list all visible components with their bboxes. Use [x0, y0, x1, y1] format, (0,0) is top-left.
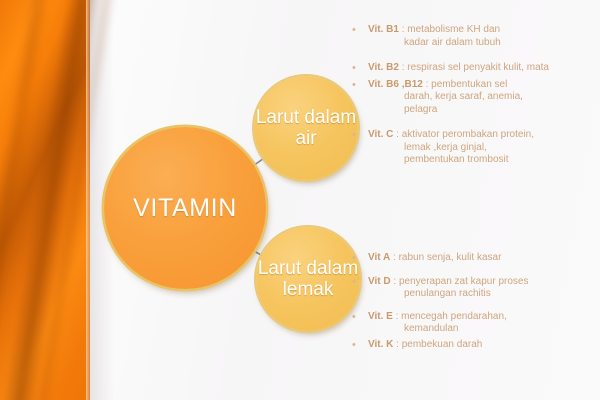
- vitamin-list-item-text: Vit D : penyerapan zat kapur prosespenul…: [368, 276, 598, 301]
- vitamin-description: : rabun senja, kulit kasar: [390, 252, 501, 263]
- vitamin-description: : respirasi sel penyakit kulit, mata: [399, 62, 549, 73]
- vitamin-term: Vit A: [368, 252, 390, 263]
- vitamin-list-item-text: Vit. C : aktivator perombakan protein,le…: [368, 129, 598, 167]
- diagram-node-larut-dalam-lemak[interactable]: Larut dalam lemak: [256, 227, 360, 331]
- vitamin-term: Vit D: [368, 276, 391, 287]
- vitamin-term: Vit. E: [368, 311, 393, 322]
- vitamin-list-item: •Vit D : penyerapan zat kapur prosespenu…: [352, 276, 598, 301]
- bullet-icon: •: [352, 62, 368, 76]
- bullet-icon: •: [352, 276, 368, 290]
- vitamin-list-item-text: Vit. K : pembekuan darah: [368, 339, 598, 352]
- vitamin-list-item-text: Vit A : rabun senja, kulit kasar: [368, 252, 598, 265]
- vitamin-description: : pembentukan sel: [423, 79, 508, 90]
- vitamin-description-continued: penulangan rachitis: [368, 288, 598, 301]
- vitamin-list-item-text: Vit. E : mencegah pendarahan,kemandulan: [368, 311, 598, 336]
- vitamin-list-item: •Vit. B1 : metabolisme KH dankadar air d…: [352, 24, 598, 49]
- vitamin-description-continued: darah, kerja saraf, anemia,: [368, 91, 598, 104]
- diagram-node-larut-dalam-air-label: Larut dalam air: [254, 107, 358, 150]
- bullet-icon: •: [352, 79, 368, 93]
- vitamin-description-continued: pembentukan trombosit: [368, 154, 598, 167]
- vitamin-list-item: •Vit. B2 : respirasi sel penyakit kulit,…: [352, 62, 598, 76]
- diagram-node-vitamin-label: VITAMIN: [133, 194, 237, 222]
- vitamin-list-item: •Vit. B6 ,B12 : pembentukan seldarah, ke…: [352, 79, 598, 117]
- vitamin-term: Vit. B2: [368, 62, 399, 73]
- diagram-node-larut-dalam-lemak-label: Larut dalam lemak: [256, 258, 360, 301]
- slide-canvas: VITAMIN Larut dalam air Larut dalam lema…: [0, 0, 600, 400]
- vitamin-list-item: •Vit. C : aktivator perombakan protein,l…: [352, 129, 598, 167]
- bullet-icon: •: [352, 252, 368, 266]
- vitamin-list-item-text: Vit. B2 : respirasi sel penyakit kulit, …: [368, 62, 598, 75]
- diagram-node-larut-dalam-air[interactable]: Larut dalam air: [254, 76, 358, 180]
- vitamin-description: : mencegah pendarahan,: [393, 311, 507, 322]
- diagram-node-vitamin[interactable]: VITAMIN: [104, 127, 266, 289]
- vitamin-term: Vit. B6 ,B12: [368, 79, 423, 90]
- bullet-icon: •: [352, 24, 368, 38]
- vitamin-description-continued: kadar air dalam tubuh: [368, 37, 598, 50]
- vitamin-description-continued: pelagra: [368, 104, 598, 117]
- vitamin-description: : aktivator perombakan protein,: [393, 129, 534, 140]
- vitamin-list-item: •Vit. E : mencegah pendarahan,kemandulan: [352, 311, 598, 336]
- vitamin-list-item-text: Vit. B1 : metabolisme KH dankadar air da…: [368, 24, 598, 49]
- vitamin-list-item: •Vit A : rabun senja, kulit kasar: [352, 252, 598, 266]
- vitamin-description: : penyerapan zat kapur proses: [391, 276, 529, 287]
- vitamin-description: : metabolisme KH dan: [399, 24, 500, 35]
- fat-soluble-vitamin-list: •Vit A : rabun senja, kulit kasar•Vit D …: [352, 252, 598, 356]
- vitamin-description-continued: kemandulan: [368, 323, 598, 336]
- bullet-icon: •: [352, 129, 368, 143]
- vitamin-description-continued: lemak ,kerja ginjal,: [368, 142, 598, 155]
- vitamin-term: Vit. K: [368, 339, 393, 350]
- vitamin-term: Vit. C: [368, 129, 393, 140]
- vitamin-description: : pembekuan darah: [393, 339, 482, 350]
- vitamin-list-item-text: Vit. B6 ,B12 : pembentukan seldarah, ker…: [368, 79, 598, 117]
- bullet-icon: •: [352, 311, 368, 325]
- vitamin-term: Vit. B1: [368, 24, 399, 35]
- vitamin-list-item: •Vit. K : pembekuan darah: [352, 339, 598, 353]
- water-soluble-vitamin-list: •Vit. B1 : metabolisme KH dankadar air d…: [352, 24, 598, 170]
- bullet-icon: •: [352, 339, 368, 353]
